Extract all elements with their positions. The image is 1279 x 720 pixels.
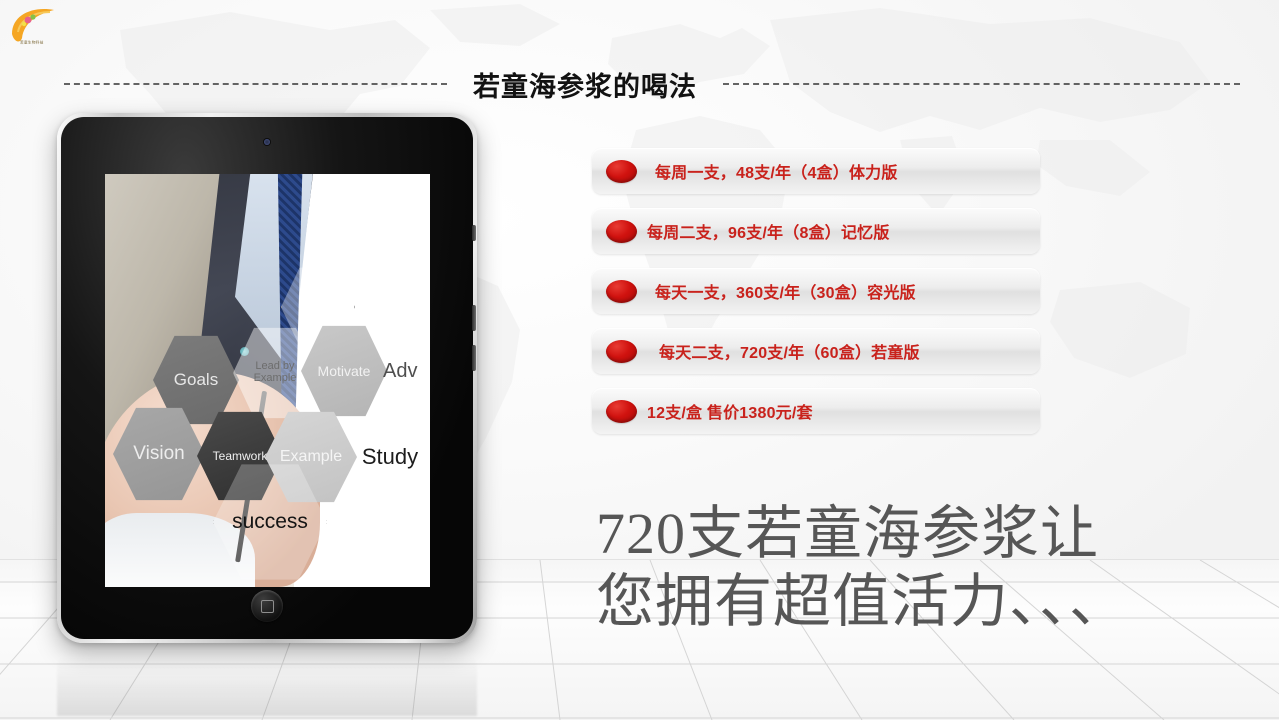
red-dot-icon xyxy=(606,280,637,303)
slide-root: 若童生物科技 若童海参浆的喝法 xyxy=(0,0,1279,720)
list-item[interactable]: 每周一支，48支/年（4盒）体力版 xyxy=(592,148,1040,194)
red-dot-icon xyxy=(606,160,637,183)
hexagon-label: Vision xyxy=(133,444,184,464)
logo-caption: 若童生物科技 xyxy=(20,40,44,45)
red-dot-icon xyxy=(606,220,637,243)
hexagon-label: Teamwork xyxy=(213,450,268,463)
list-item-label: 每周二支，96支/年（8盒）记忆版 xyxy=(647,219,890,243)
list-item-label: 12支/盒 售价1380元/套 xyxy=(647,399,813,423)
tablet-body: Goals Lead byExample Motivate Adv Vi xyxy=(61,117,473,639)
promo-headline: 720支若童海参浆让 您拥有超值活力、、、 xyxy=(596,500,1256,637)
list-item-label: 每天二支，720支/年（60盒）若童版 xyxy=(659,339,920,363)
title-row: 若童海参浆的喝法 xyxy=(0,62,1279,106)
tablet-bezel: Goals Lead byExample Motivate Adv Vi xyxy=(57,113,477,643)
red-dot-icon xyxy=(606,400,637,423)
screen-image: Goals Lead byExample Motivate Adv Vi xyxy=(105,174,430,587)
list-item-label: 每周一支，48支/年（4盒）体力版 xyxy=(655,159,898,183)
tablet-screen: Goals Lead byExample Motivate Adv Vi xyxy=(105,174,430,587)
title-divider-right xyxy=(723,83,1240,85)
hexagon-label: Lead byExample xyxy=(254,361,297,384)
hexagon-advise: Adv xyxy=(377,324,430,418)
home-button[interactable] xyxy=(251,590,283,622)
hexagon-label: Adv xyxy=(383,361,417,382)
headline-line-2: 您拥有超值活力、、、 xyxy=(596,568,1256,636)
page-title: 若童海参浆的喝法 xyxy=(473,65,697,104)
red-dot-icon xyxy=(606,340,637,363)
list-item[interactable]: 12支/盒 售价1380元/套 xyxy=(592,388,1040,434)
hexagon-label: Example xyxy=(280,449,342,466)
list-item-label: 每天一支，360支/年（30盒）容光版 xyxy=(655,279,916,303)
company-logo[interactable]: 若童生物科技 xyxy=(8,4,64,52)
list-item[interactable]: 每天二支，720支/年（60盒）若童版 xyxy=(592,328,1040,374)
list-item[interactable]: 每天一支，360支/年（30盒）容光版 xyxy=(592,268,1040,314)
volume-down-button[interactable] xyxy=(472,345,476,371)
volume-up-button[interactable] xyxy=(472,305,476,331)
camera-icon xyxy=(264,139,270,145)
power-button[interactable] xyxy=(472,225,476,241)
hexagon-label: Motivate xyxy=(318,364,371,379)
hexagon-label: Goals xyxy=(174,371,218,389)
hexagon-label: success xyxy=(232,511,308,533)
dosage-plan-list: 每周一支，48支/年（4盒）体力版 每周二支，96支/年（8盒）记忆版 每天一支… xyxy=(592,148,1040,448)
headline-line-1: 720支若童海参浆让 xyxy=(596,500,1256,568)
hexagon-label: Study xyxy=(362,445,418,468)
list-item[interactable]: 每周二支，96支/年（8盒）记忆版 xyxy=(592,208,1040,254)
tablet-device: Goals Lead byExample Motivate Adv Vi xyxy=(57,113,477,643)
hexagon-study: Study xyxy=(345,410,430,504)
title-divider-left xyxy=(64,83,447,85)
